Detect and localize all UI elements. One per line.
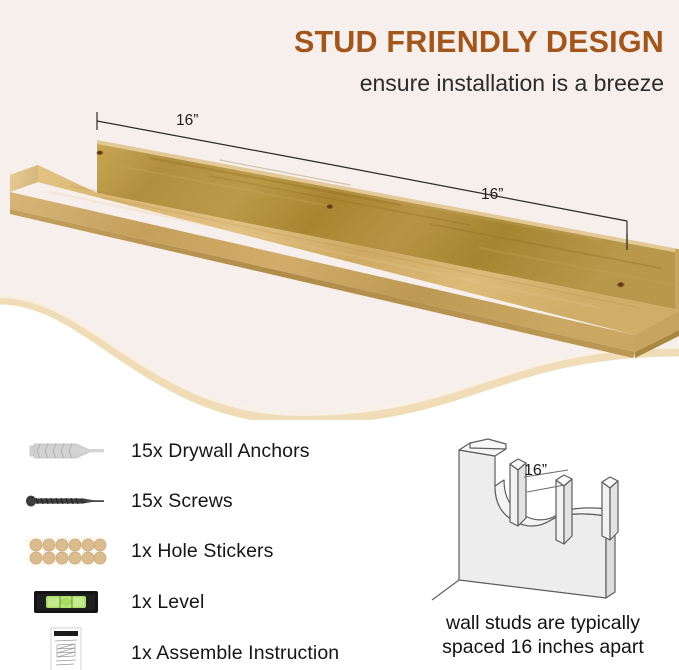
instruction-icon	[18, 630, 114, 670]
mounting-hole	[97, 151, 104, 156]
page-subtitle: ensure installation is a breeze	[264, 70, 664, 98]
wall-studs-diagram	[410, 428, 672, 610]
level-icon	[18, 579, 114, 625]
hole-stickers-icon	[18, 528, 114, 574]
shelf-dimension-label-left: 16”	[176, 112, 198, 130]
included-parts-list: 15x Drywall Anchors	[0, 420, 400, 670]
studs-dimension-label: 16”	[524, 462, 547, 480]
drywall-anchor-icon	[18, 428, 114, 474]
screw-icon	[18, 478, 114, 524]
list-item-label: 15x Screws	[131, 490, 233, 513]
studs-caption-line-2: spaced 16 inches apart	[412, 636, 674, 660]
list-item: 1x Assemble Instruction	[0, 628, 400, 670]
list-item: 15x Drywall Anchors	[0, 426, 400, 476]
list-item: 1x Level	[0, 577, 400, 627]
list-item: 15x Screws	[0, 476, 400, 526]
product-infographic: 16” 16” STUD FRIENDLY DESIGN ensure inst…	[0, 0, 679, 670]
mounting-hole	[326, 204, 333, 209]
mounting-hole	[617, 282, 625, 288]
studs-caption: wall studs are typically spaced 16 inche…	[412, 612, 674, 660]
list-item: 1x Hole Stickers	[0, 526, 400, 576]
list-item-label: 15x Drywall Anchors	[131, 440, 310, 463]
page-title: STUD FRIENDLY DESIGN	[264, 26, 664, 58]
stud	[602, 477, 618, 540]
shelf-illustration	[0, 0, 679, 420]
shelf-dimension-label-right: 16”	[481, 186, 503, 204]
list-item-label: 1x Hole Stickers	[131, 540, 273, 563]
list-item-label: 1x Level	[131, 591, 204, 614]
list-item-label: 1x Assemble Instruction	[131, 642, 339, 665]
studs-caption-line-1: wall studs are typically	[412, 612, 674, 636]
